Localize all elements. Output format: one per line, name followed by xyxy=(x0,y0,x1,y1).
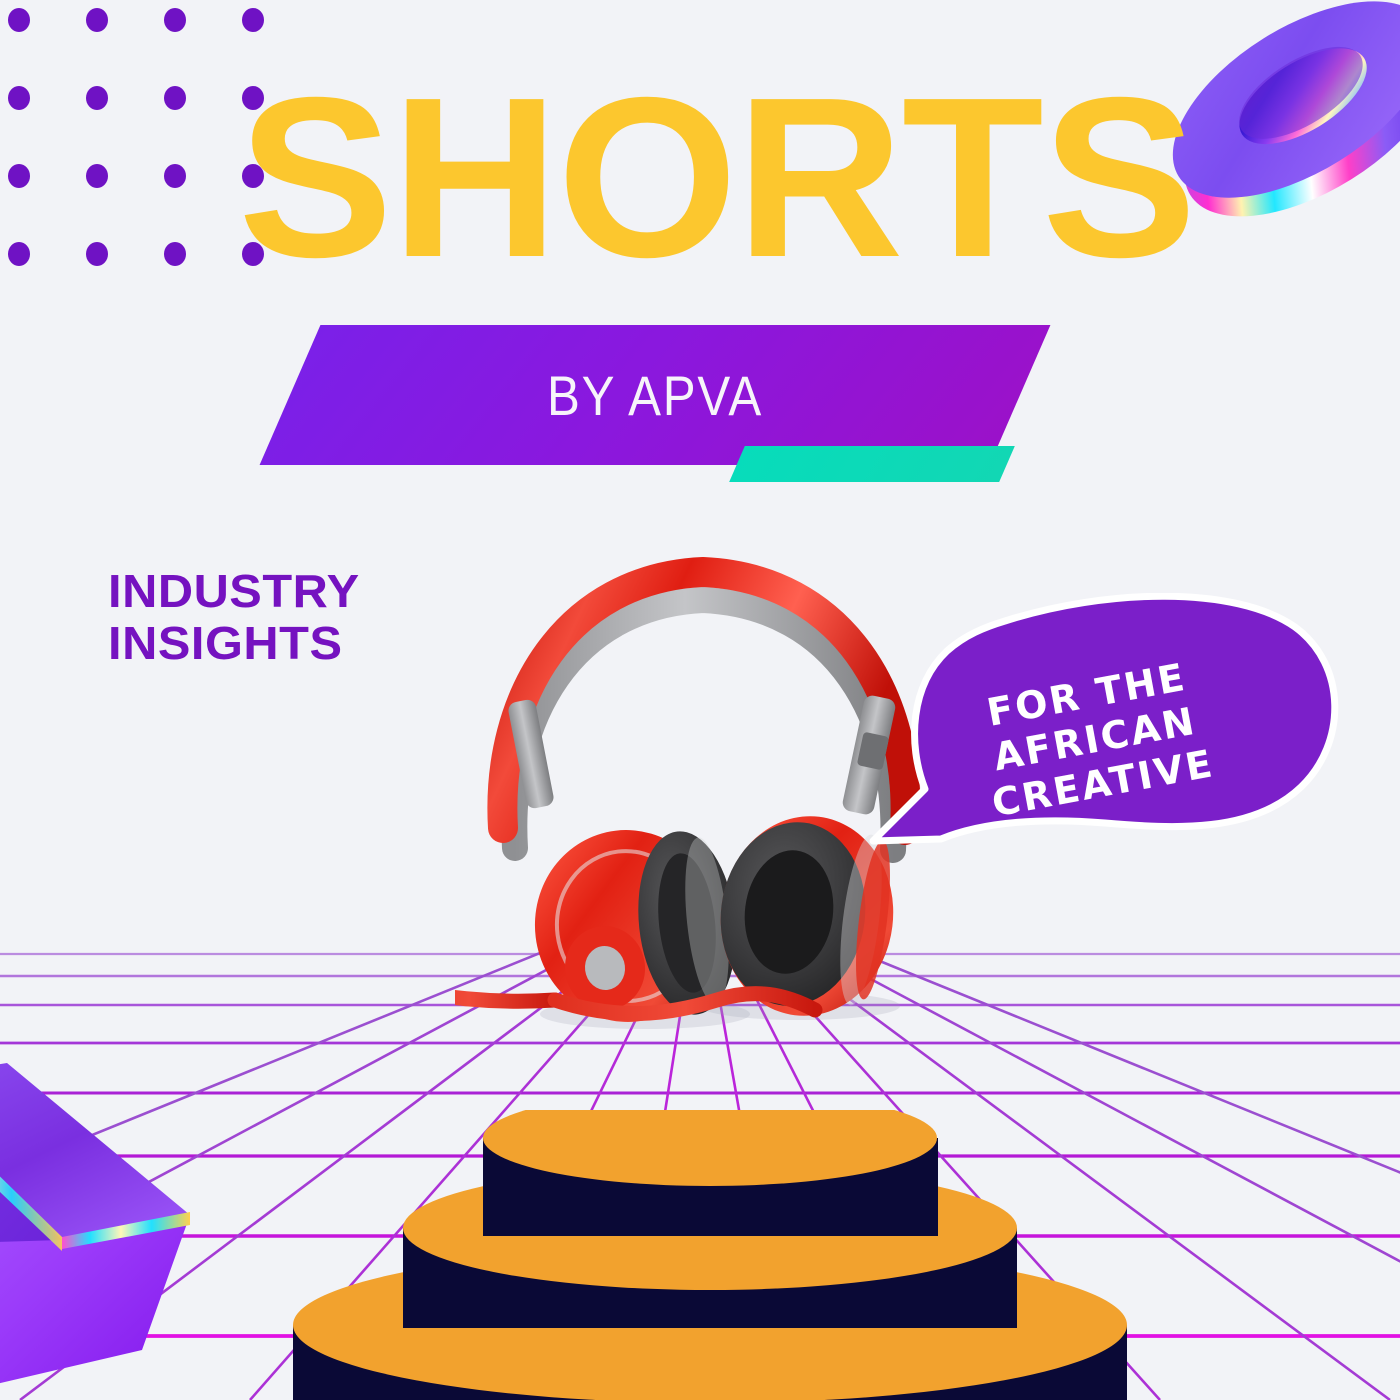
decor-dot xyxy=(242,8,264,32)
decor-dot xyxy=(86,164,108,188)
page-title: SHORTS xyxy=(238,74,1217,284)
decor-dot xyxy=(164,8,186,32)
poster-canvas: SHORTS BY APVA INDUSTRY INSIGHTS FOR THE… xyxy=(0,0,1400,1400)
decor-dot xyxy=(8,164,30,188)
decor-dot xyxy=(86,242,108,266)
decor-dot xyxy=(8,8,30,32)
decor-dot xyxy=(8,242,30,266)
dot-matrix-decor xyxy=(0,0,260,260)
headline-block: INDUSTRY INSIGHTS xyxy=(108,566,360,669)
byline-label: BY APVA xyxy=(334,325,976,465)
decor-dot xyxy=(164,242,186,266)
podium-tier-top xyxy=(483,1110,938,1236)
headline-line-1: INDUSTRY xyxy=(108,566,360,618)
decor-dot xyxy=(8,86,30,110)
decor-dot xyxy=(164,164,186,188)
product-podium xyxy=(275,1110,1145,1400)
decor-dot xyxy=(164,86,186,110)
decor-dot xyxy=(86,8,108,32)
iridescent-cube-icon xyxy=(0,1055,202,1385)
decor-dot xyxy=(86,86,108,110)
headline-line-2: INSIGHTS xyxy=(108,618,360,670)
